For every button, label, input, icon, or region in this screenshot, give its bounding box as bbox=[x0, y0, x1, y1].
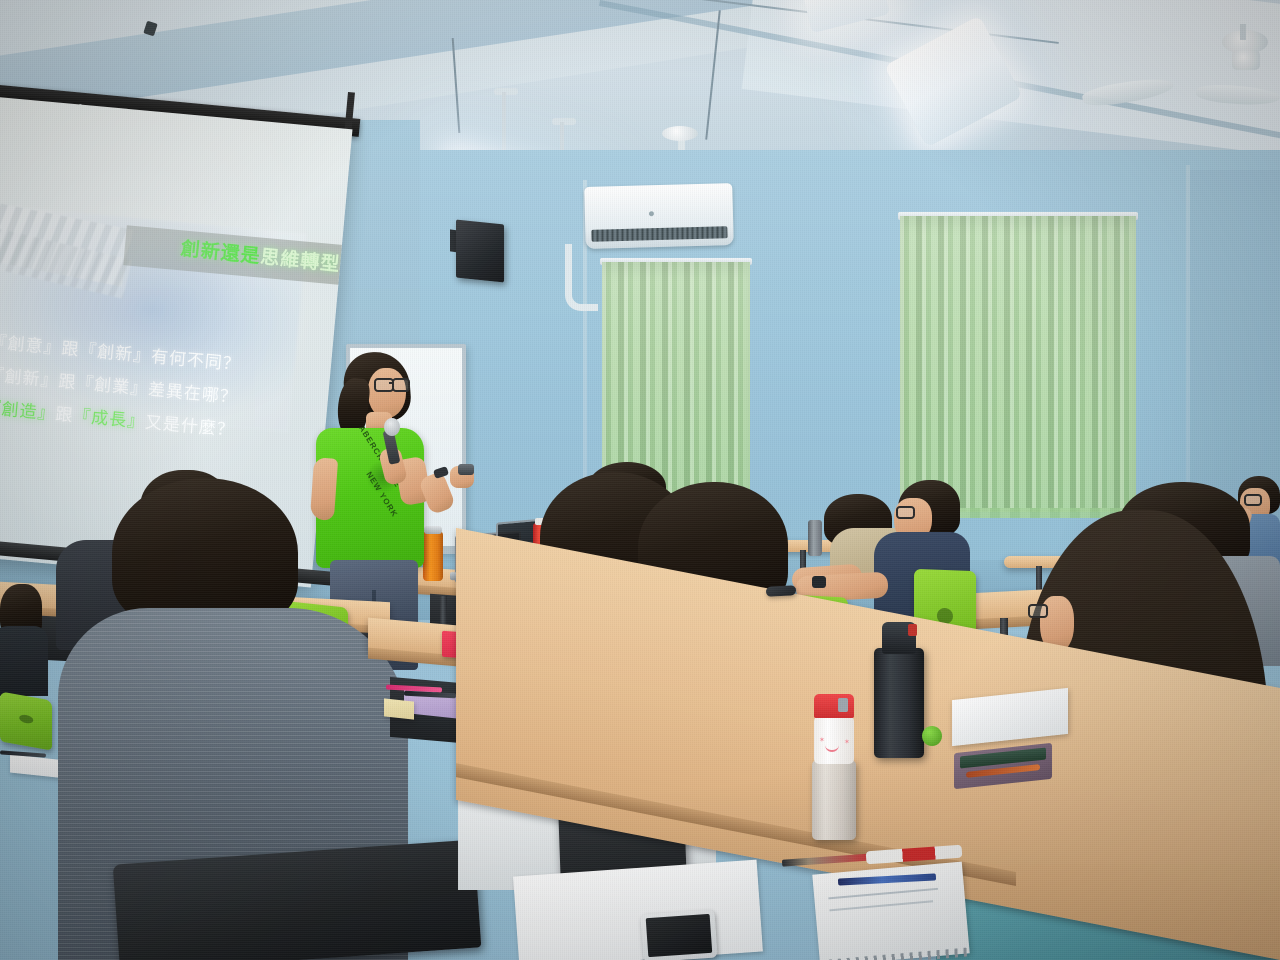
presenter-face bbox=[368, 368, 406, 418]
slide-line-3-seg-2: 跟 bbox=[55, 405, 75, 426]
tumbler-black[interactable] bbox=[874, 648, 924, 758]
presenter-arm-left bbox=[310, 457, 338, 521]
notebook-spiral-binding bbox=[820, 947, 970, 960]
thermos-cute-latch[interactable] bbox=[838, 698, 848, 712]
phone-front[interactable] bbox=[640, 909, 717, 960]
lamp-rod-cap-1 bbox=[494, 88, 518, 95]
fan-right-body bbox=[1232, 50, 1260, 70]
thermos-cute-face bbox=[825, 742, 839, 752]
paper-white-front[interactable] bbox=[513, 860, 763, 960]
fan-center-mount bbox=[662, 126, 698, 141]
student-front-grey-hair bbox=[112, 478, 298, 628]
bottle-grey-small[interactable] bbox=[808, 520, 822, 556]
ball-green[interactable] bbox=[922, 726, 942, 746]
thermos-cute-star-2: ✶ bbox=[844, 738, 849, 743]
lamp-rod-1 bbox=[502, 92, 506, 154]
sticky-note[interactable] bbox=[384, 698, 414, 719]
ac-indicator-light bbox=[649, 211, 654, 216]
student-teal-woman-glasses bbox=[1028, 604, 1048, 618]
presenter-clicker[interactable] bbox=[458, 464, 474, 475]
bottle-orange-cap[interactable] bbox=[424, 526, 442, 534]
ac-pipe bbox=[565, 244, 598, 311]
thermos-cute-star-1: ✶ bbox=[819, 736, 824, 741]
microphone-head[interactable] bbox=[384, 418, 400, 436]
presenter-glasses-bridge bbox=[389, 382, 394, 384]
presenter-glasses-left bbox=[374, 378, 394, 392]
student-blue-back-glasses bbox=[1244, 494, 1262, 506]
student-navy-glasses bbox=[896, 506, 915, 519]
ac-vent bbox=[591, 226, 727, 242]
classroom-scene: 創新還是思維轉型 『創意』跟『創新』有何不同？ 『創新』跟『創業』差異在哪？ 『… bbox=[0, 0, 1280, 960]
lamp-rod-cap-2 bbox=[552, 118, 576, 125]
presenter-glasses-right bbox=[392, 378, 410, 392]
curtain-right bbox=[900, 216, 1136, 512]
slide-line-3-seg-1: 『創造』 bbox=[0, 398, 56, 423]
thermos-cute-body[interactable]: ✶ ✶ bbox=[814, 716, 854, 764]
slide-line-3-seg-4: 又是什麼？ bbox=[144, 413, 235, 440]
phone-front-screen[interactable] bbox=[646, 914, 712, 957]
student-navy-watch bbox=[812, 576, 826, 588]
slide-line-3-seg-3: 『成長』 bbox=[73, 406, 146, 431]
thermos-cute-cap[interactable] bbox=[814, 694, 854, 718]
wall-speaker bbox=[456, 219, 504, 282]
student-edge-left-body bbox=[0, 626, 48, 696]
chair-green-far-left-handle bbox=[19, 714, 33, 724]
chair-green-far-left[interactable] bbox=[0, 691, 52, 750]
tumbler-black-button[interactable] bbox=[908, 624, 917, 636]
thermos-cute-sleeve[interactable] bbox=[812, 760, 856, 840]
bottle-orange[interactable] bbox=[423, 531, 443, 581]
air-conditioner-unit bbox=[584, 183, 734, 249]
notebook-line-1 bbox=[828, 888, 938, 900]
fan-right-stem bbox=[1240, 24, 1246, 40]
notebook-line-2 bbox=[829, 900, 933, 911]
phone-dark[interactable] bbox=[766, 585, 796, 597]
